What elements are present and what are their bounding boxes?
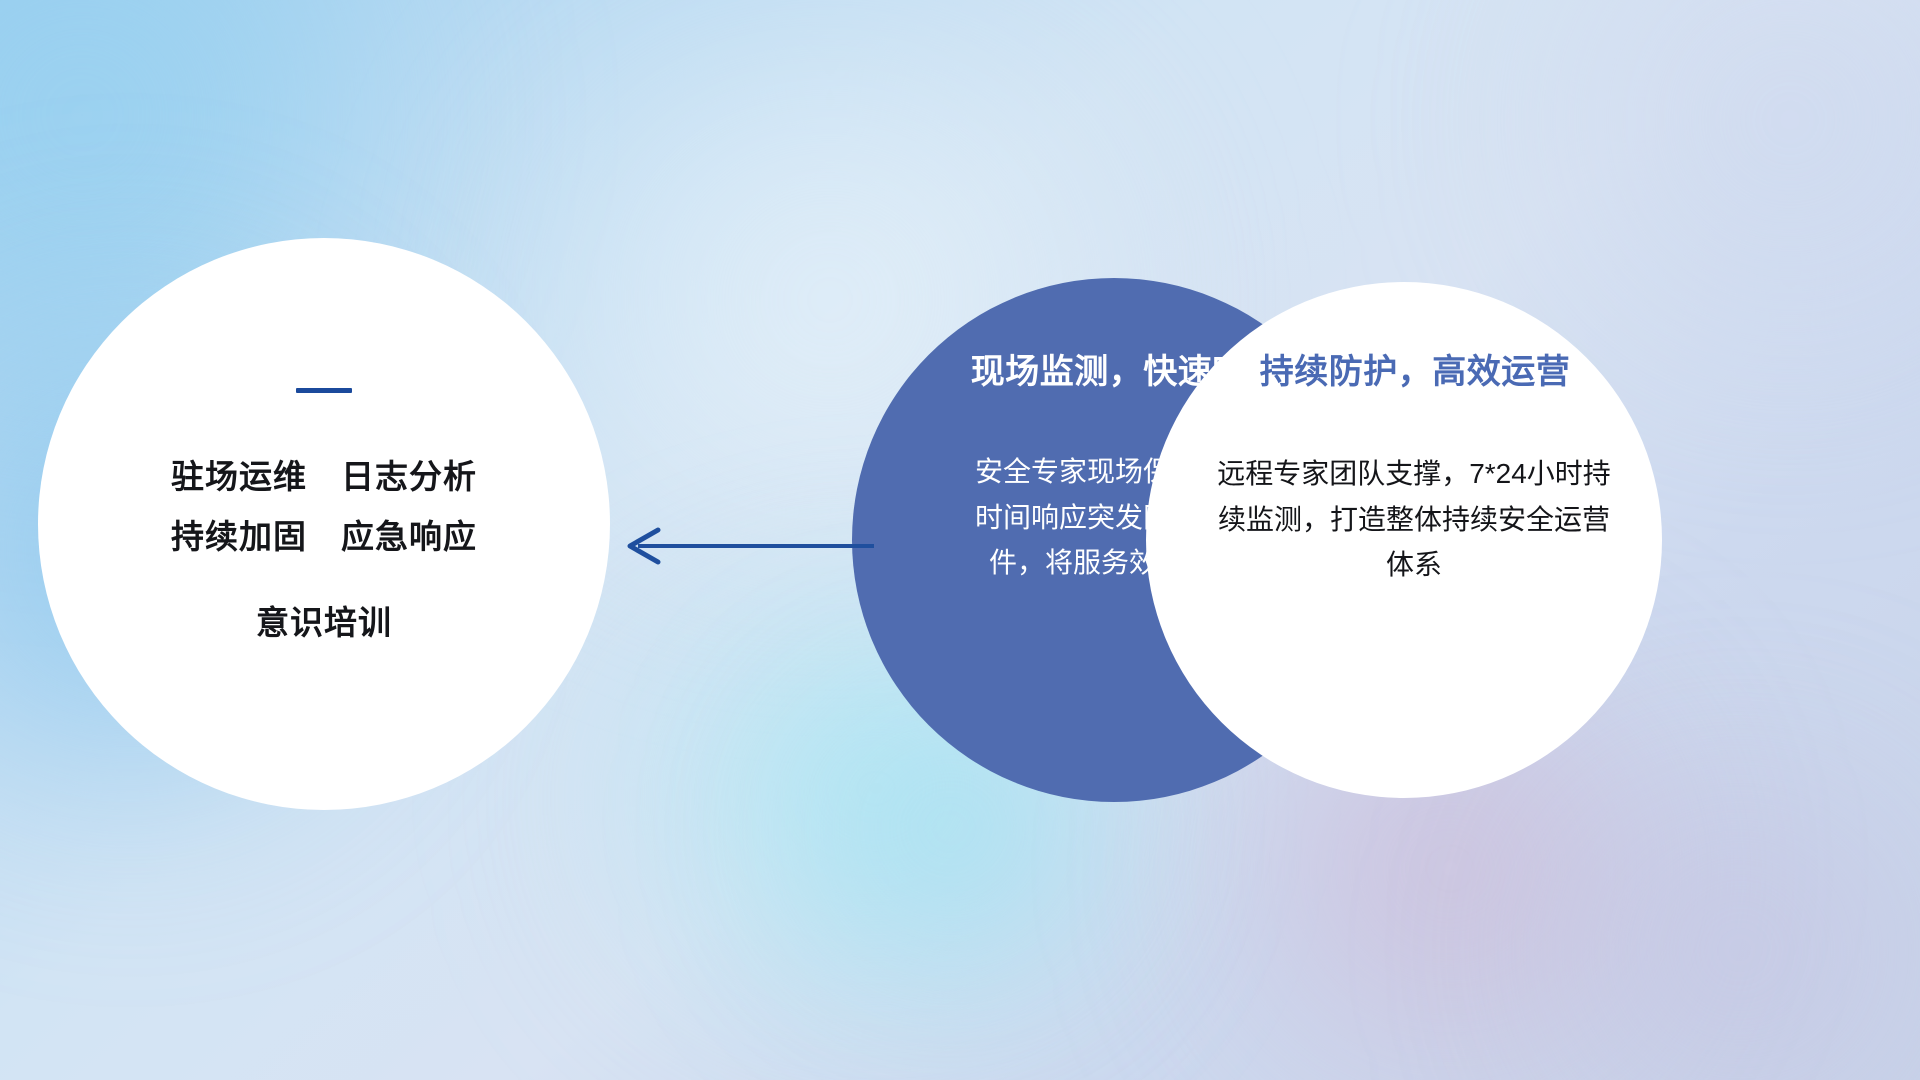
capability-tag: 持续加固 (171, 507, 307, 567)
capability-tag-list: 驻场运维 日志分析 持续加固 应急响应 意识培训 (171, 447, 477, 653)
capability-tag: 日志分析 (341, 447, 477, 507)
continuous-protection-title: 持续防护，高效运营 (1260, 344, 1571, 393)
capability-row-2: 持续加固 应急响应 (171, 507, 477, 567)
continuous-protection-body: 远程专家团队支撑，7*24小时持续监测，打造整体持续安全运营体系 (1209, 451, 1619, 588)
capability-tag: 意识培训 (256, 593, 392, 653)
left-circle-content: 驻场运维 日志分析 持续加固 应急响应 意识培训 (38, 238, 610, 810)
capability-tag: 驻场运维 (171, 447, 307, 507)
capability-tag: 应急响应 (341, 507, 477, 567)
capability-row-3: 意识培训 (256, 593, 392, 653)
flow-arrow-icon (612, 518, 878, 574)
continuous-protection-content: 持续防护，高效运营 远程专家团队支撑，7*24小时持续监测，打造整体持续安全运营… (1146, 282, 1662, 798)
accent-dash-divider (296, 388, 352, 393)
slide-canvas: 驻场运维 日志分析 持续加固 应急响应 意识培训 现场监测，快速响应 安全专家现… (0, 0, 1920, 1080)
capability-row-1: 驻场运维 日志分析 (171, 447, 477, 507)
